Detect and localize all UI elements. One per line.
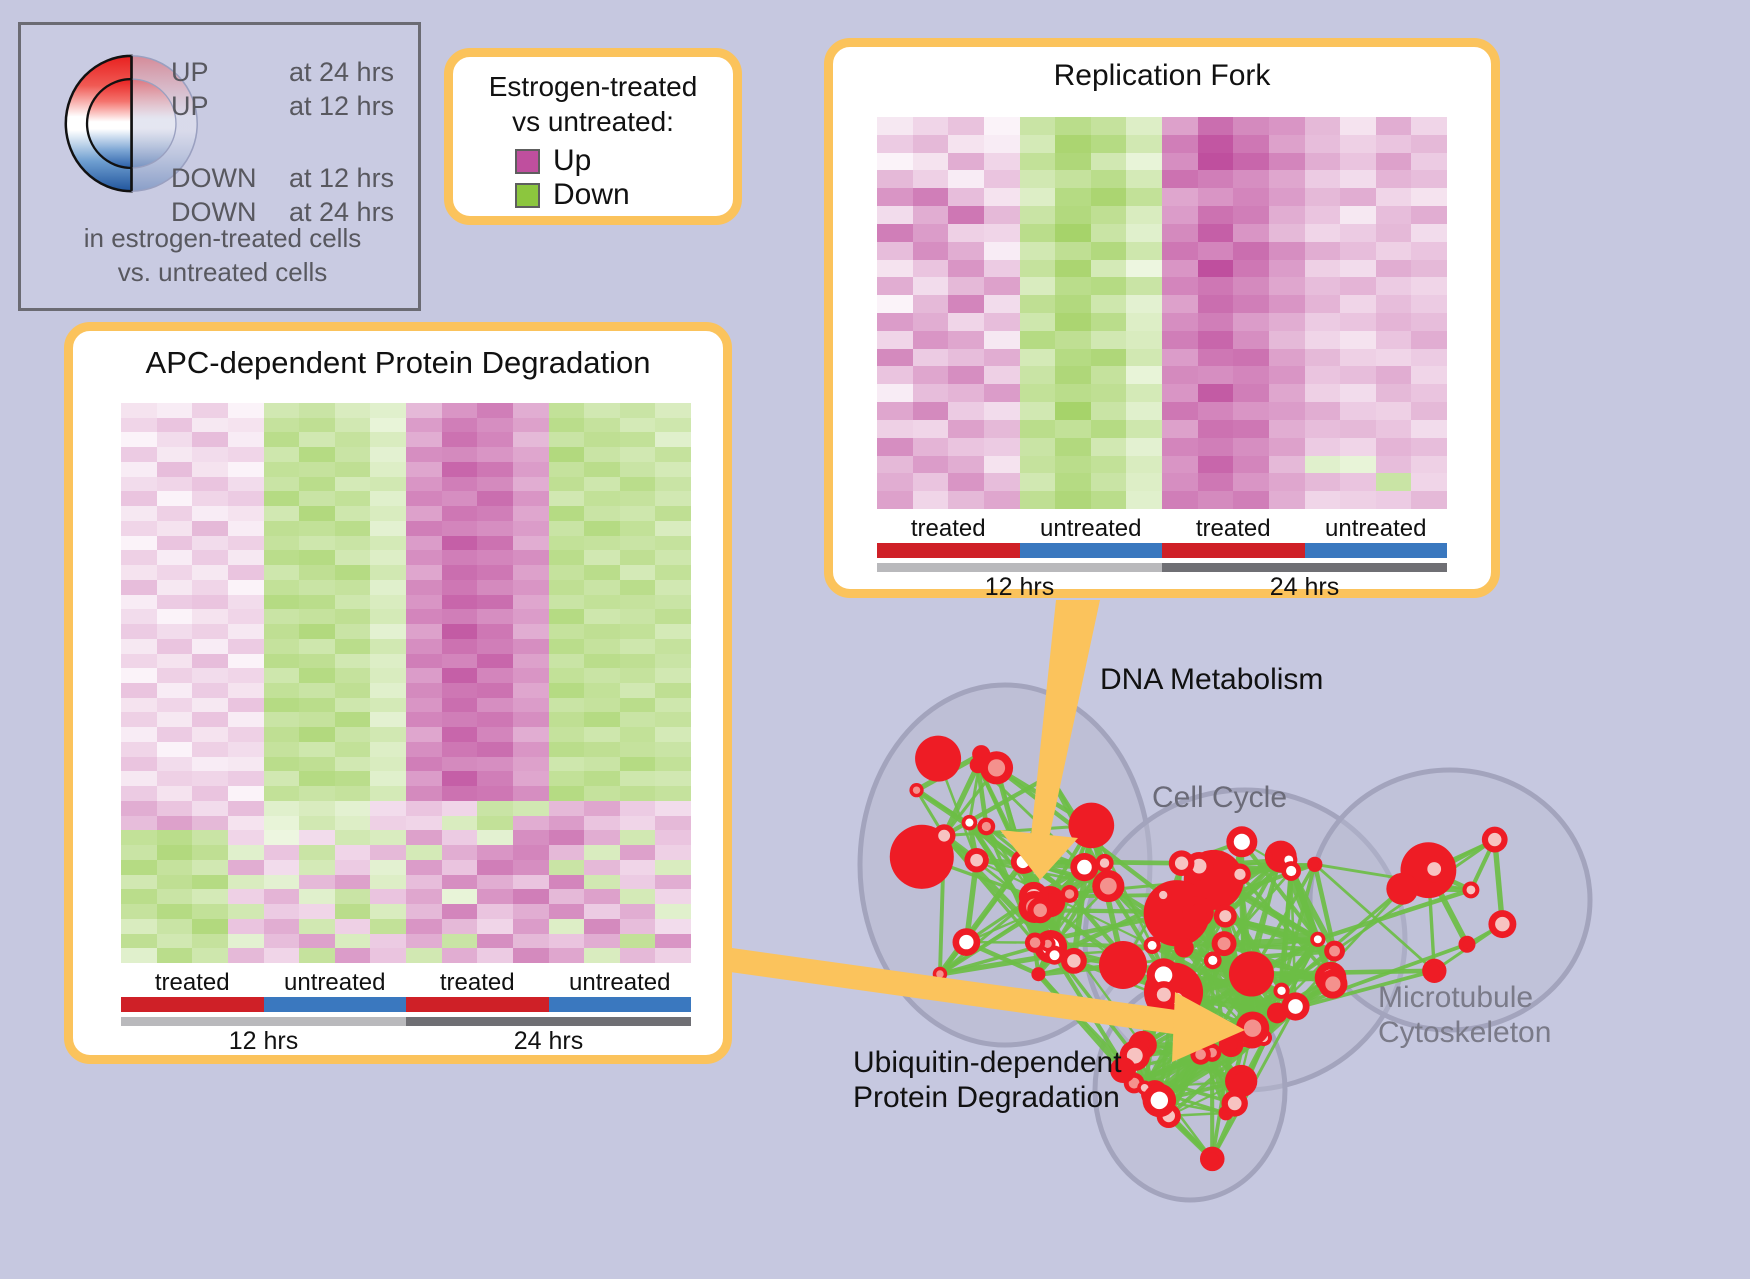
network-node[interactable] [1219, 1032, 1244, 1057]
network-node[interactable] [1307, 857, 1322, 872]
heatmap-cell [335, 565, 371, 580]
network-node[interactable] [1267, 1003, 1288, 1024]
heatmap-cell [984, 117, 1020, 135]
heatmap-cell [948, 277, 984, 295]
heatmap-cell [1055, 188, 1091, 206]
heatmap-cell [877, 242, 913, 260]
network-node[interactable] [1190, 1044, 1210, 1064]
heatmap-cell [157, 934, 193, 949]
function-network-graph [790, 600, 1750, 1279]
network-node[interactable] [1061, 948, 1087, 974]
heatmap-cell [549, 462, 585, 477]
heatmap-cell [192, 477, 228, 492]
heatmap-cell [984, 313, 1020, 331]
heatmap-cell [299, 904, 335, 919]
heatmap-cell [584, 712, 620, 727]
heatmap-cell [299, 889, 335, 904]
network-node[interactable] [1229, 864, 1251, 886]
network-node[interactable] [1281, 861, 1301, 881]
heatmap-cell [228, 432, 264, 447]
network-node[interactable] [909, 783, 923, 797]
heatmap-cell [121, 889, 157, 904]
heatmap-cell [1376, 349, 1412, 367]
heatmap-cell [228, 845, 264, 860]
heatmap-cell [984, 384, 1020, 402]
heatmap-cell [1055, 491, 1091, 509]
heatmap-cell [655, 786, 691, 801]
heatmap-cell [477, 727, 513, 742]
heatmap-cell [655, 462, 691, 477]
network-node[interactable] [1458, 936, 1475, 953]
heatmap-cell [1055, 135, 1091, 153]
heatmap-cell [1233, 491, 1269, 509]
heatmap-cell [335, 889, 371, 904]
network-node-inner-disc [1228, 1097, 1242, 1111]
time-group-bar [406, 1017, 691, 1026]
network-node-inner-disc [1077, 860, 1092, 875]
heatmap-cell [121, 521, 157, 536]
network-node[interactable] [1031, 967, 1045, 981]
heatmap-cell [192, 550, 228, 565]
heatmap-cell [1126, 242, 1162, 260]
heatmap-cell [1162, 224, 1198, 242]
heatmap-cell [228, 550, 264, 565]
network-node[interactable] [915, 736, 961, 782]
time-group-label: 12 hrs [877, 572, 1162, 602]
heatmap-cell [299, 521, 335, 536]
heatmap-cell [1233, 135, 1269, 153]
heatmap-cell [192, 624, 228, 639]
heatmap-cell [655, 757, 691, 772]
heatmap-cell [228, 919, 264, 934]
heatmap-cell [620, 668, 656, 683]
network-node[interactable] [1214, 905, 1237, 928]
heatmap-cell [406, 757, 442, 772]
heatmap-cell [157, 609, 193, 624]
network-node[interactable] [980, 751, 1013, 784]
network-node[interactable] [1235, 971, 1255, 991]
heatmap-cell [157, 683, 193, 698]
heatmap-cell [620, 919, 656, 934]
heatmap-cell [370, 609, 406, 624]
heatmap-cell [1055, 349, 1091, 367]
heatmap-cell [370, 904, 406, 919]
heatmap-cell [877, 188, 913, 206]
heatmap-cell [406, 727, 442, 742]
heatmap-cell [1233, 295, 1269, 313]
network-node-inner-disc [1100, 878, 1117, 895]
heatmap-cell [620, 830, 656, 845]
network-node[interactable] [1225, 1065, 1257, 1097]
heatmap-cell [192, 565, 228, 580]
heatmap-cell [584, 506, 620, 521]
heatmap-cell [1269, 456, 1305, 474]
heatmap-cell [549, 698, 585, 713]
heatmap-cell [549, 771, 585, 786]
heatmap-cell [157, 727, 193, 742]
heatmap-cell [299, 668, 335, 683]
down-color-swatch [515, 183, 540, 208]
heatmap-cell [655, 580, 691, 595]
heatmap-cell [1233, 313, 1269, 331]
heatmap-cell [121, 550, 157, 565]
heatmap-cell [442, 639, 478, 654]
heatmap-cell [477, 904, 513, 919]
heatmap-cell [192, 654, 228, 669]
heatmap-cell [655, 491, 691, 506]
heatmap-cell [1198, 420, 1234, 438]
network-node[interactable] [1177, 1013, 1200, 1036]
heatmap-cell [1233, 349, 1269, 367]
network-node-inner-disc [1046, 772, 1053, 779]
heatmap-cell [1055, 277, 1091, 295]
heatmap-cell [299, 536, 335, 551]
heatmap-cell [228, 447, 264, 462]
heatmap-cell [477, 418, 513, 433]
heatmap-cell [477, 771, 513, 786]
heatmap-cell [192, 786, 228, 801]
heatmap-cell [877, 170, 913, 188]
heatmap-cell [655, 595, 691, 610]
heatmap-cell [1269, 349, 1305, 367]
network-node-inner-disc [959, 935, 973, 949]
heatmap-cell [1162, 349, 1198, 367]
network-node[interactable] [1226, 826, 1257, 857]
heatmap-cell [1091, 170, 1127, 188]
network-node[interactable] [1182, 896, 1214, 928]
heatmap-cell [948, 260, 984, 278]
heatmap-cell [984, 473, 1020, 491]
heatmap-cell [513, 403, 549, 418]
heatmap-cell [948, 313, 984, 331]
heatmap-cell [1411, 295, 1447, 313]
heatmap-cell [477, 477, 513, 492]
heatmap-cell [620, 712, 656, 727]
heatmap-cell [192, 447, 228, 462]
heatmap-cell [948, 420, 984, 438]
heatmap-cell [442, 683, 478, 698]
heatmap-cell [442, 432, 478, 447]
heatmap-cell [406, 565, 442, 580]
heatmap-cell [948, 402, 984, 420]
network-node[interactable] [1099, 941, 1147, 989]
network-node[interactable] [964, 848, 988, 872]
heatmap-cell [513, 875, 549, 890]
heatmap-cell [477, 550, 513, 565]
network-node[interactable] [1092, 870, 1124, 902]
network-node-inner-disc [1067, 954, 1080, 967]
heatmap-cell [984, 491, 1020, 509]
heatmap-cell [264, 639, 300, 654]
heatmap-cell [1411, 260, 1447, 278]
network-node[interactable] [1174, 938, 1194, 958]
heatmap-cell [299, 919, 335, 934]
network-node-inner-disc [982, 822, 991, 831]
heatmap-cell [655, 403, 691, 418]
heatmap-cell [192, 712, 228, 727]
network-node[interactable] [1068, 803, 1114, 849]
heatmap-cell [1233, 366, 1269, 384]
heatmap-cell [370, 403, 406, 418]
network-node[interactable] [1095, 854, 1113, 872]
color-key-direction: DOWN [171, 161, 289, 195]
network-node-inner-disc [938, 830, 950, 842]
heatmap-cell [1340, 349, 1376, 367]
network-node[interactable] [933, 824, 956, 847]
heatmap-cell [442, 521, 478, 536]
heatmap-cell [121, 712, 157, 727]
heatmap-cell [335, 830, 371, 845]
heatmap-cell [406, 595, 442, 610]
heatmap-cell [335, 477, 371, 492]
heatmap-cell [121, 506, 157, 521]
heatmap-cell [370, 565, 406, 580]
heatmap-cell [513, 860, 549, 875]
heatmap-cell [264, 860, 300, 875]
heatmap-cell [121, 801, 157, 816]
heatmap-cell [335, 550, 371, 565]
heatmap-cell [1162, 206, 1198, 224]
heatmap-cell [370, 830, 406, 845]
network-node-inner-disc [1182, 1018, 1194, 1030]
color-key-time: at 24 hrs [289, 55, 394, 89]
heatmap-cell [549, 757, 585, 772]
heatmap-cell [1269, 153, 1305, 171]
heatmap-cell [1233, 384, 1269, 402]
network-node[interactable] [1482, 827, 1508, 853]
network-node[interactable] [962, 815, 978, 831]
heatmap-cell [442, 786, 478, 801]
heatmap-cell [406, 875, 442, 890]
network-node[interactable] [1204, 951, 1222, 969]
heatmap-cell [513, 477, 549, 492]
network-node[interactable] [1070, 853, 1098, 881]
heatmap-cell [913, 313, 949, 331]
heatmap-cell [335, 727, 371, 742]
network-node[interactable] [1324, 941, 1345, 962]
heatmap-cell [1055, 384, 1091, 402]
heatmap-cell [1126, 366, 1162, 384]
heatmap-cell [1198, 135, 1234, 153]
heatmap-cell [335, 536, 371, 551]
heatmap-cell [549, 948, 585, 963]
heatmap-cell [406, 801, 442, 816]
heatmap-cell [264, 477, 300, 492]
heatmap-cell [192, 771, 228, 786]
heatmap-cell [335, 668, 371, 683]
heatmap-cell [264, 889, 300, 904]
heatmap-cell [192, 934, 228, 949]
heatmap-cell [228, 403, 264, 418]
heatmap-cell [549, 875, 585, 890]
network-node-inner-disc [1311, 860, 1319, 868]
network-node[interactable] [1144, 937, 1161, 954]
heatmap-cell [549, 712, 585, 727]
heatmap-cell [228, 624, 264, 639]
heatmap-cell [948, 438, 984, 456]
time-group-label: 12 hrs [121, 1026, 406, 1056]
heatmap-cell [335, 904, 371, 919]
network-node-inner-disc [1030, 937, 1041, 948]
heatmap-cell [335, 801, 371, 816]
network-node-inner-disc [1488, 833, 1501, 846]
heatmap-cell [121, 418, 157, 433]
network-node[interactable] [1061, 885, 1079, 903]
heatmap-cell [620, 860, 656, 875]
heatmap-cell [913, 188, 949, 206]
heatmap-cell [549, 639, 585, 654]
network-node[interactable] [1150, 981, 1177, 1008]
heatmap-cell [157, 742, 193, 757]
heatmap-cell [948, 135, 984, 153]
heatmap-cell [121, 403, 157, 418]
heatmap-cell [1020, 260, 1056, 278]
heatmap-cell [264, 403, 300, 418]
heatmap-cell [1126, 135, 1162, 153]
heatmap-cell [370, 742, 406, 757]
network-node[interactable] [1462, 881, 1479, 898]
heatmap-cell [549, 418, 585, 433]
heatmap-cell [157, 668, 193, 683]
heatmap-cell [157, 447, 193, 462]
heatmap-cell [1269, 242, 1305, 260]
heatmap-cell [584, 801, 620, 816]
network-node[interactable] [1386, 873, 1418, 905]
heatmap-cell [1233, 331, 1269, 349]
heatmap-cell [655, 889, 691, 904]
heatmap-cell [1020, 188, 1056, 206]
color-key-direction: UP [171, 89, 289, 123]
heatmap-cell [264, 447, 300, 462]
heatmap-cell [192, 875, 228, 890]
sample-group-bars [877, 543, 1447, 558]
heatmap-cell [1055, 473, 1091, 491]
heatmap-cell [655, 875, 691, 890]
heatmap-cell [1376, 206, 1412, 224]
network-node[interactable] [977, 818, 995, 836]
heatmap-cell [549, 550, 585, 565]
heatmap-cell [228, 683, 264, 698]
heatmap-cell [406, 506, 442, 521]
heatmap-cell [157, 477, 193, 492]
heatmap-cell [1411, 384, 1447, 402]
heatmap-cell [192, 727, 228, 742]
heatmap-cell [584, 934, 620, 949]
heatmap-cell [620, 801, 656, 816]
heatmap-cell [1055, 313, 1091, 331]
heatmap-cell [335, 418, 371, 433]
replication-fork-panel: Replication Fork treateduntreatedtreated… [824, 38, 1500, 598]
heatmap-cell [1340, 473, 1376, 491]
heatmap-cell [442, 550, 478, 565]
heatmap-cell [264, 580, 300, 595]
sample-group-bar [1162, 543, 1305, 558]
heatmap-cell [1269, 295, 1305, 313]
heatmap-cell [192, 698, 228, 713]
apc-degradation-title: APC-dependent Protein Degradation [73, 331, 723, 381]
network-node[interactable] [1011, 850, 1035, 874]
heatmap-cell [584, 521, 620, 536]
network-node[interactable] [1155, 887, 1171, 903]
network-node-inner-disc [970, 854, 983, 867]
network-node[interactable] [1488, 910, 1516, 938]
heatmap-cell [406, 536, 442, 551]
heatmap-cell [264, 875, 300, 890]
heatmap-cell [264, 506, 300, 521]
time-group-bar [121, 1017, 406, 1026]
heatmap-cell [157, 491, 193, 506]
heatmap-cell [121, 845, 157, 860]
heatmap-cell [1305, 384, 1341, 402]
heatmap-cell [299, 609, 335, 624]
network-node[interactable] [953, 928, 981, 956]
heatmap-cell [228, 609, 264, 624]
heatmap-cell [192, 816, 228, 831]
heatmap-cell [1055, 331, 1091, 349]
network-node[interactable] [1200, 1147, 1225, 1172]
heatmap-cell [335, 742, 371, 757]
heatmap-cell [370, 860, 406, 875]
heatmap-cell [157, 757, 193, 772]
heatmap-cell [192, 860, 228, 875]
network-node[interactable] [1043, 769, 1057, 783]
heatmap-cell [513, 683, 549, 698]
heatmap-cell [1020, 242, 1056, 260]
heatmap-cell [1233, 473, 1269, 491]
heatmap-cell [1411, 402, 1447, 420]
heatmap-cell [1091, 384, 1127, 402]
heatmap-cell [584, 462, 620, 477]
heatmap-cell [1376, 277, 1412, 295]
heatmap-cell [1340, 277, 1376, 295]
heatmap-cell [335, 712, 371, 727]
heatmap-cell [477, 742, 513, 757]
color-key-direction: UP [171, 55, 289, 89]
heatmap-cell [584, 624, 620, 639]
network-node[interactable] [1025, 932, 1045, 952]
network-node[interactable] [1169, 850, 1195, 876]
network-node[interactable] [1318, 969, 1347, 998]
network-node[interactable] [1143, 1084, 1177, 1118]
heatmap-cell [299, 462, 335, 477]
heatmap-cell [513, 521, 549, 536]
heatmap-cell [584, 609, 620, 624]
heatmap-cell [121, 609, 157, 624]
network-node[interactable] [1027, 897, 1053, 923]
legend-item-down: Down [515, 179, 733, 211]
heatmap-cell [264, 904, 300, 919]
heatmap-cell [1126, 438, 1162, 456]
heatmap-cell [1198, 188, 1234, 206]
heatmap-cell [1376, 295, 1412, 313]
heatmap-cell [264, 919, 300, 934]
heatmap-cell [299, 801, 335, 816]
heatmap-cell [877, 135, 913, 153]
network-node[interactable] [933, 967, 947, 981]
heatmap-cell [477, 919, 513, 934]
heatmap-cell [584, 550, 620, 565]
network-node[interactable] [1421, 856, 1447, 882]
heatmap-cell [370, 816, 406, 831]
heatmap-cell [513, 536, 549, 551]
heatmap-cell [264, 816, 300, 831]
color-key-rows: UP at 24 hrs UP at 12 hrs DOWN at 12 hrs… [171, 55, 421, 229]
network-node[interactable] [1310, 932, 1325, 947]
heatmap-cell [1126, 295, 1162, 313]
network-node-inner-disc [1427, 862, 1441, 876]
heatmap-cell [584, 477, 620, 492]
heatmap-cell [157, 565, 193, 580]
